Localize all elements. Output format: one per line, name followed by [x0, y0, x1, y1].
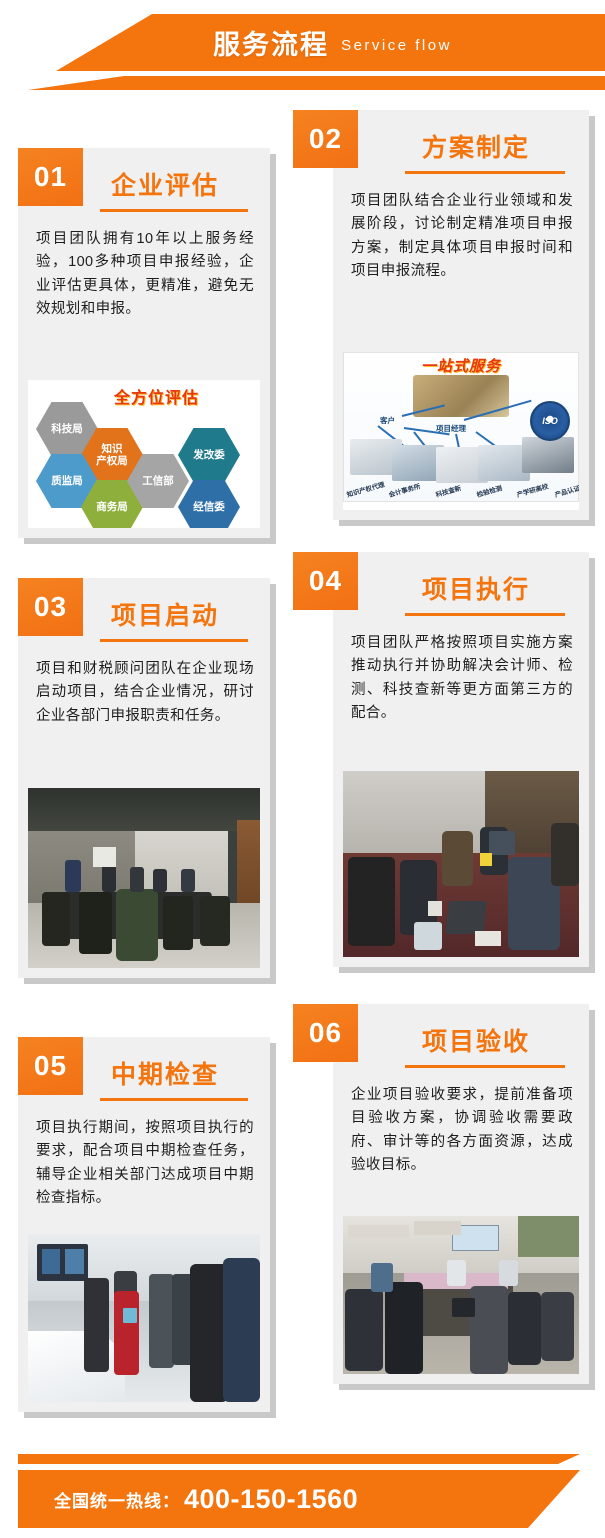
- card-media-06: [343, 1216, 579, 1374]
- one-stop-tag-2: 会计事务所: [387, 480, 421, 499]
- process-card-03[interactable]: 项目启动 项目和财税顾问团队在企业现场启动项目，结合企业情况，研讨企业各部门申报…: [18, 578, 270, 978]
- hotline-group: 全国统一热线： 400-150-1560: [54, 1470, 358, 1528]
- hex-node-fagai: 发改委: [178, 428, 240, 482]
- card-media-04: [343, 771, 579, 957]
- one-stop-node-5: [522, 437, 574, 473]
- photo-site-inspection: [28, 1234, 260, 1402]
- process-card-01[interactable]: 企业评估 项目团队拥有10年以上服务经验，100多种项目申报经验，企业评估更具体…: [18, 148, 270, 538]
- hexagon-diagram: 全方位评估 科技局 知识 产权局 质监局 商务局 工信部 发改委 经信委: [28, 380, 260, 520]
- card-title-06: 项目验收: [333, 1004, 589, 1058]
- page-footer: 全国统一热线： 400-150-1560: [0, 1418, 605, 1538]
- card-media-01: 全方位评估 科技局 知识 产权局 质监局 商务局 工信部 发改委 经信委: [28, 380, 260, 528]
- iso-seal-icon: ISO: [530, 401, 570, 441]
- header-orange-stripe: [0, 76, 605, 90]
- card-title-02: 方案制定: [333, 110, 589, 164]
- one-stop-title: 一站式服务: [344, 355, 578, 376]
- card-body-01: 项目团队拥有10年以上服务经验，100多种项目申报经验，企业评估更具体，更精准，…: [18, 212, 270, 332]
- card-badge-01: 01: [18, 148, 83, 206]
- page-title: 服务流程: [213, 23, 329, 62]
- one-stop-tag-5: 产学研高校: [515, 480, 549, 499]
- hex-node-jingxin: 经信委: [178, 480, 240, 528]
- card-media-05: [28, 1234, 260, 1402]
- one-stop-tag-3: 科技查新: [434, 482, 462, 499]
- one-stop-tag-6: 产品认证服务: [553, 479, 579, 499]
- process-card-04[interactable]: 项目执行 项目团队严格按照项目实施方案推动执行并协助解决会计师、检测、科技查新等…: [333, 552, 589, 967]
- one-stop-tag-4: 检验检测: [475, 482, 503, 499]
- card-body-05: 项目执行期间，按照项目执行的要求，配合项目中期检查任务，辅导企业相关部门达成项目…: [18, 1101, 270, 1221]
- photo-project-acceptance: [343, 1216, 579, 1374]
- footer-orange-stripe: [18, 1454, 580, 1464]
- card-media-02: 一站式服务 客户 项目经理 ISO 知识产权代理 会计事务所 科技查新 检验检测: [343, 352, 579, 510]
- card-media-03: [28, 788, 260, 968]
- card-badge-02: 02: [293, 110, 358, 168]
- header-title-group: 服务流程 Service flow: [0, 14, 605, 71]
- one-stop-service-diagram: 一站式服务 客户 项目经理 ISO 知识产权代理 会计事务所 科技查新 检验检测: [343, 352, 579, 502]
- card-body-03: 项目和财税顾问团队在企业现场启动项目，结合企业情况，研讨企业各部门申报职责和任务…: [18, 642, 270, 738]
- photo-project-execution: [343, 771, 579, 957]
- card-title-04: 项目执行: [333, 552, 589, 606]
- card-badge-05: 05: [18, 1037, 83, 1095]
- process-card-02[interactable]: 方案制定 项目团队结合企业行业领域和发展阶段，讨论制定精准项目申报方案，制定具体…: [333, 110, 589, 520]
- photo-kickoff-meeting: [28, 788, 260, 968]
- one-stop-tag-1: 知识产权代理: [345, 479, 385, 499]
- hotline-label: 全国统一热线：: [54, 1487, 180, 1512]
- card-badge-04: 04: [293, 552, 358, 610]
- one-stop-client-label: 客户: [380, 415, 395, 426]
- hotline-number[interactable]: 400-150-1560: [184, 1484, 358, 1515]
- card-body-02: 项目团队结合企业行业领域和发展阶段，讨论制定精准项目申报方案，制定具体项目申报时…: [333, 174, 589, 294]
- page-header: 服务流程 Service flow: [0, 0, 605, 104]
- card-badge-06: 06: [293, 1004, 358, 1062]
- iso-seal-label: ISO: [532, 403, 568, 439]
- hexagon-diagram-title: 全方位评估: [114, 384, 199, 408]
- card-badge-03: 03: [18, 578, 83, 636]
- card-body-06: 企业项目验收要求，提前准备项目验收方案，协调验收需要政府、审计等的各方面资源，达…: [333, 1068, 589, 1188]
- process-card-06[interactable]: 项目验收 企业项目验收要求，提前准备项目验收方案，协调验收需要政府、审计等的各方…: [333, 1004, 589, 1384]
- card-body-04: 项目团队严格按照项目实施方案推动执行并协助解决会计师、检测、科技查新等更方面第三…: [333, 616, 589, 736]
- page-subtitle: Service flow: [341, 31, 452, 54]
